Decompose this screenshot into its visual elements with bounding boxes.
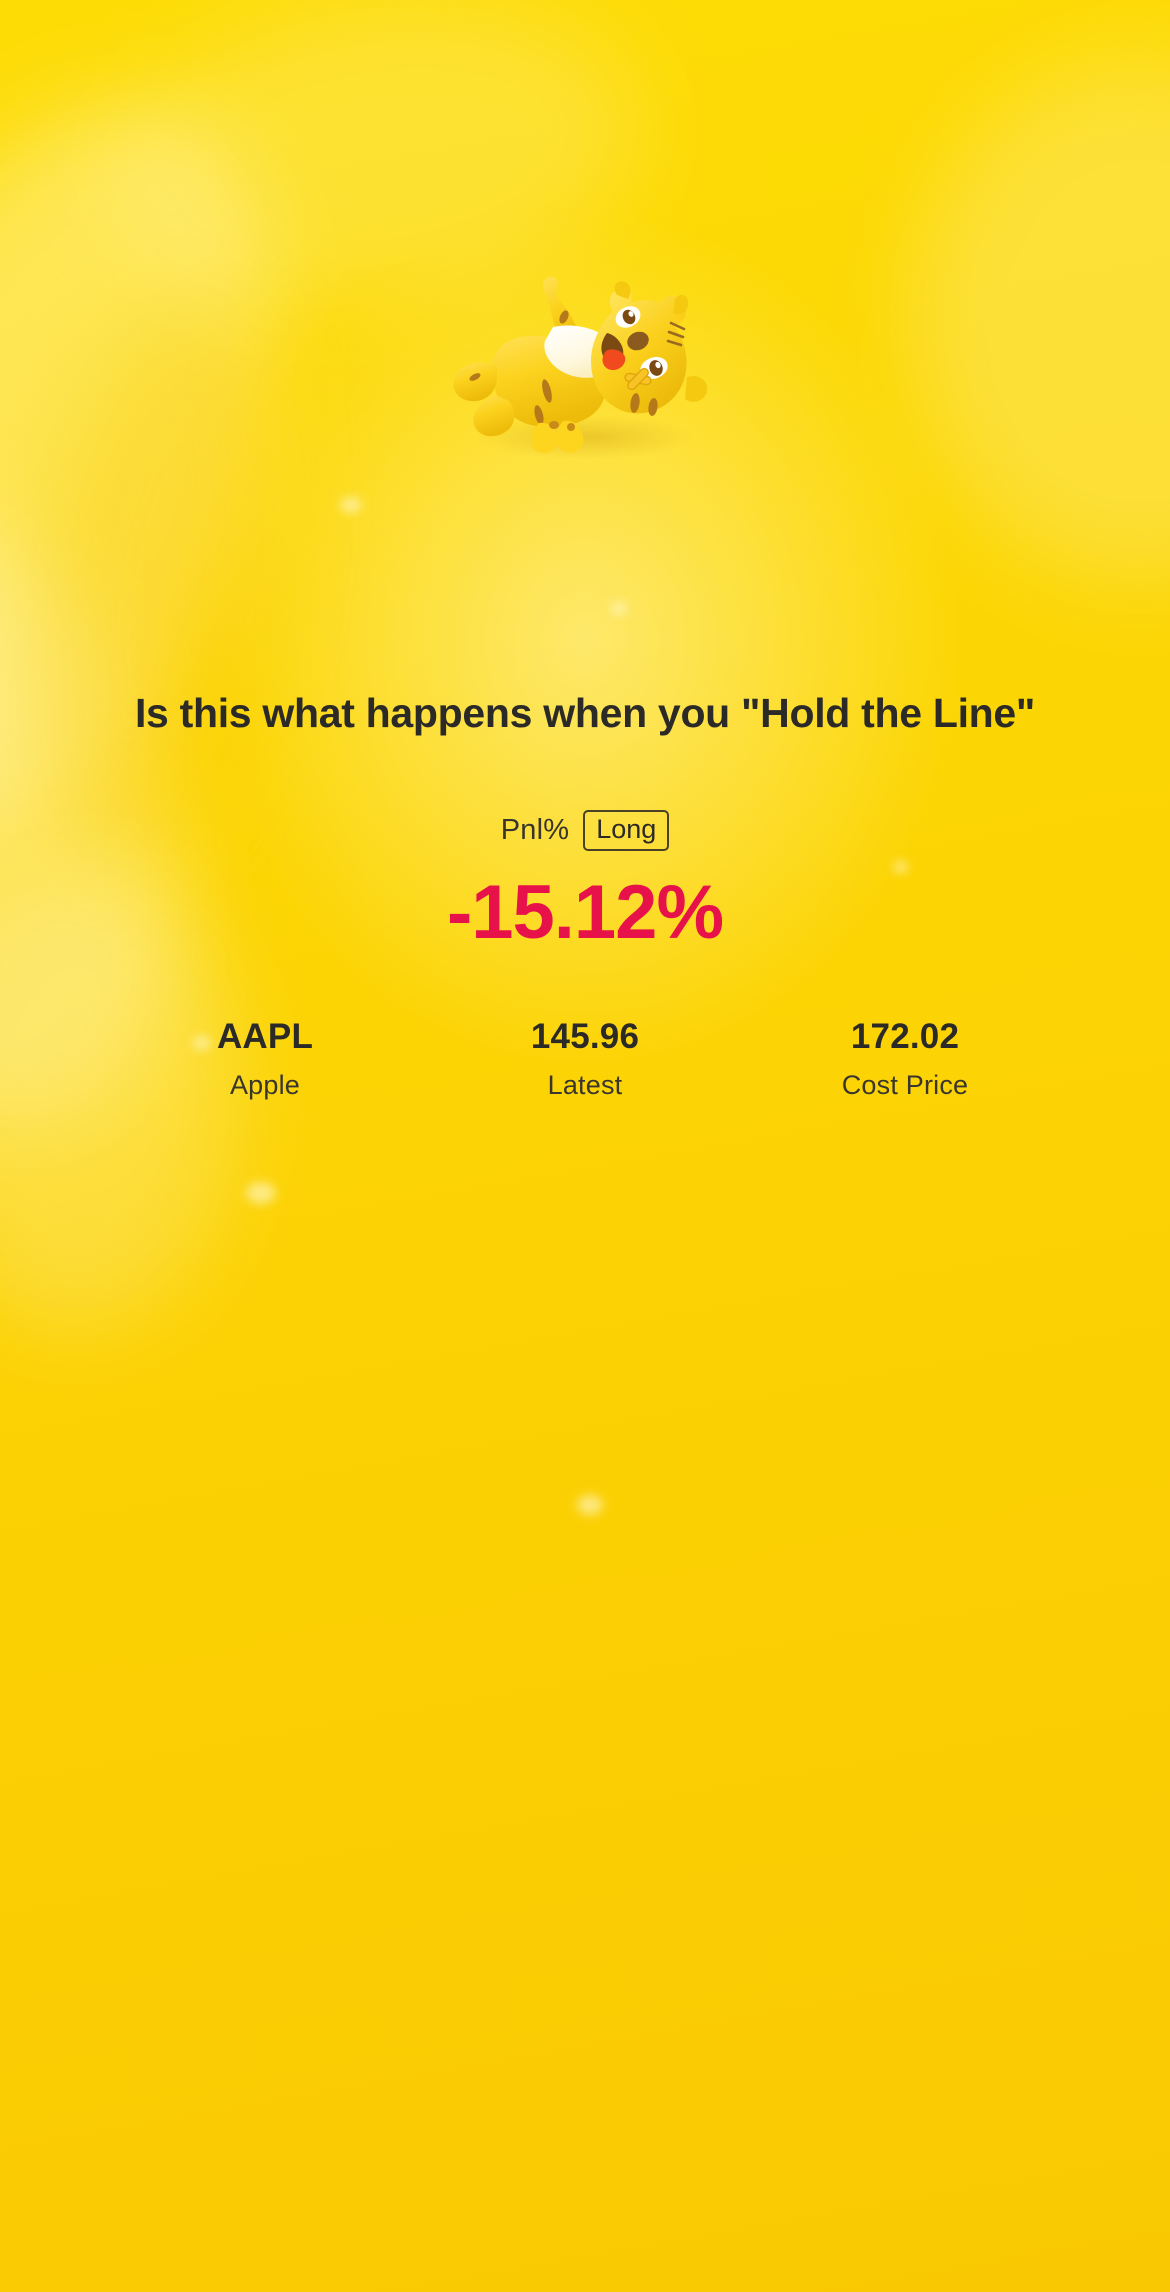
stat-value: 172.02 [745,1017,1065,1057]
position-side-badge: Long [583,810,669,851]
stat-label: Apple [105,1070,425,1101]
pnl-row: Pnl% Long [60,810,1110,851]
stat-symbol: AAPL Apple [105,1017,425,1101]
pnl-percentage-value: -15.12% [60,875,1110,951]
stat-cost-price: 172.02 Cost Price [745,1017,1065,1101]
pnl-label: Pnl% [501,814,570,847]
page-title: Is this what happens when you "Hold the … [60,690,1110,738]
sparkle-dot [246,1182,276,1204]
stat-latest: 145.96 Latest [425,1017,745,1101]
hero-content: Is this what happens when you "Hold the … [0,0,1170,1101]
stat-value: 145.96 [425,1017,745,1057]
sparkle-dot [577,1495,603,1515]
stat-label: Latest [425,1070,745,1101]
stat-value: AAPL [105,1017,425,1057]
stats-row: AAPL Apple 145.96 Latest 172.02 Cost Pri… [60,1017,1110,1101]
stat-label: Cost Price [745,1070,1065,1101]
